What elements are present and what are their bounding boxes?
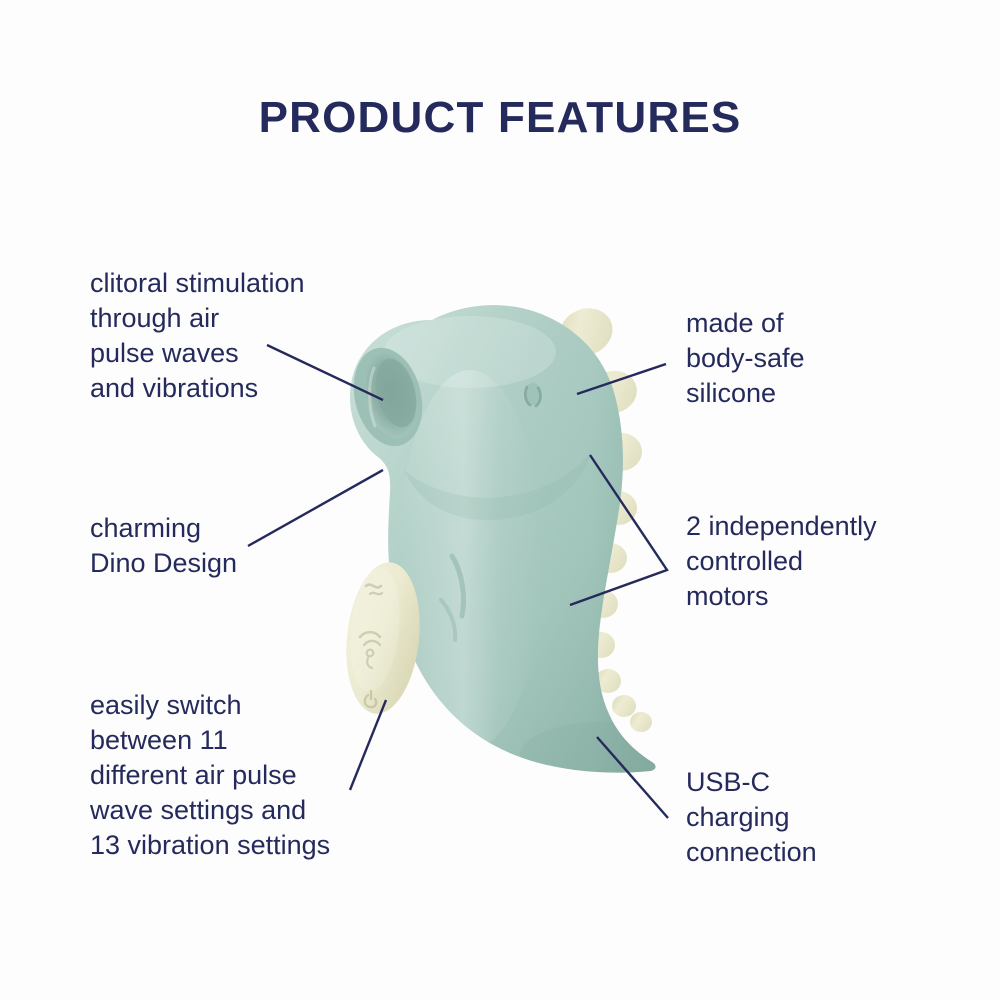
product-features-infographic: PRODUCT FEATURES — [0, 0, 1000, 1000]
callout-independent-motors: 2 independently controlled motors — [686, 509, 976, 614]
callout-body-safe-silicone: made of body-safe silicone — [686, 306, 966, 411]
callout-dino-design: charming Dino Design — [90, 511, 390, 581]
eye-dot — [524, 383, 542, 406]
callout-settings: easily switch between 11 different air p… — [90, 688, 410, 863]
callout-usbc-charging: USB-C charging connection — [686, 765, 966, 870]
callout-clitoral-stimulation: clitoral stimulation through air pulse w… — [90, 266, 390, 406]
